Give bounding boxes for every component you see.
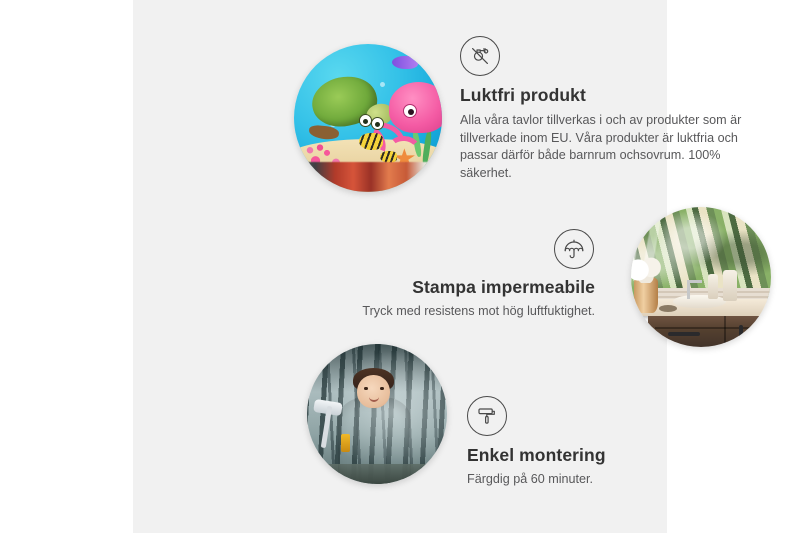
no-odour-spray-bottle-icon — [460, 36, 500, 76]
feature-image-bathroom — [631, 207, 771, 347]
umbrella-waterproof-icon — [554, 229, 594, 269]
feature-title: Stampa impermeabile — [313, 277, 595, 298]
feature-title: Luktfri produkt — [460, 85, 756, 106]
feature-title: Enkel montering — [467, 445, 747, 466]
feature-description: Alla våra tavlor tillverkas i och av pro… — [460, 112, 756, 182]
feature-image-underwater — [294, 44, 442, 192]
feature-description: Tryck med resistens mot hög luftfuktighe… — [313, 303, 595, 321]
feature-image-forest-painter — [307, 344, 447, 484]
feature-block-odourless: Luktfri produkt Alla våra tavlor tillver… — [460, 36, 756, 182]
feature-infographic-page: Luktfri produkt Alla våra tavlor tillver… — [0, 0, 800, 533]
feature-description: Färgdig på 60 minuter. — [467, 471, 747, 489]
content-panel: Luktfri produkt Alla våra tavlor tillver… — [133, 0, 667, 533]
feature-block-waterproof: Stampa impermeabile Tryck med resistens … — [313, 229, 595, 321]
feature-block-easy-assembly: Enkel montering Färgdig på 60 minuter. — [467, 396, 747, 489]
paint-roller-icon — [467, 396, 507, 436]
